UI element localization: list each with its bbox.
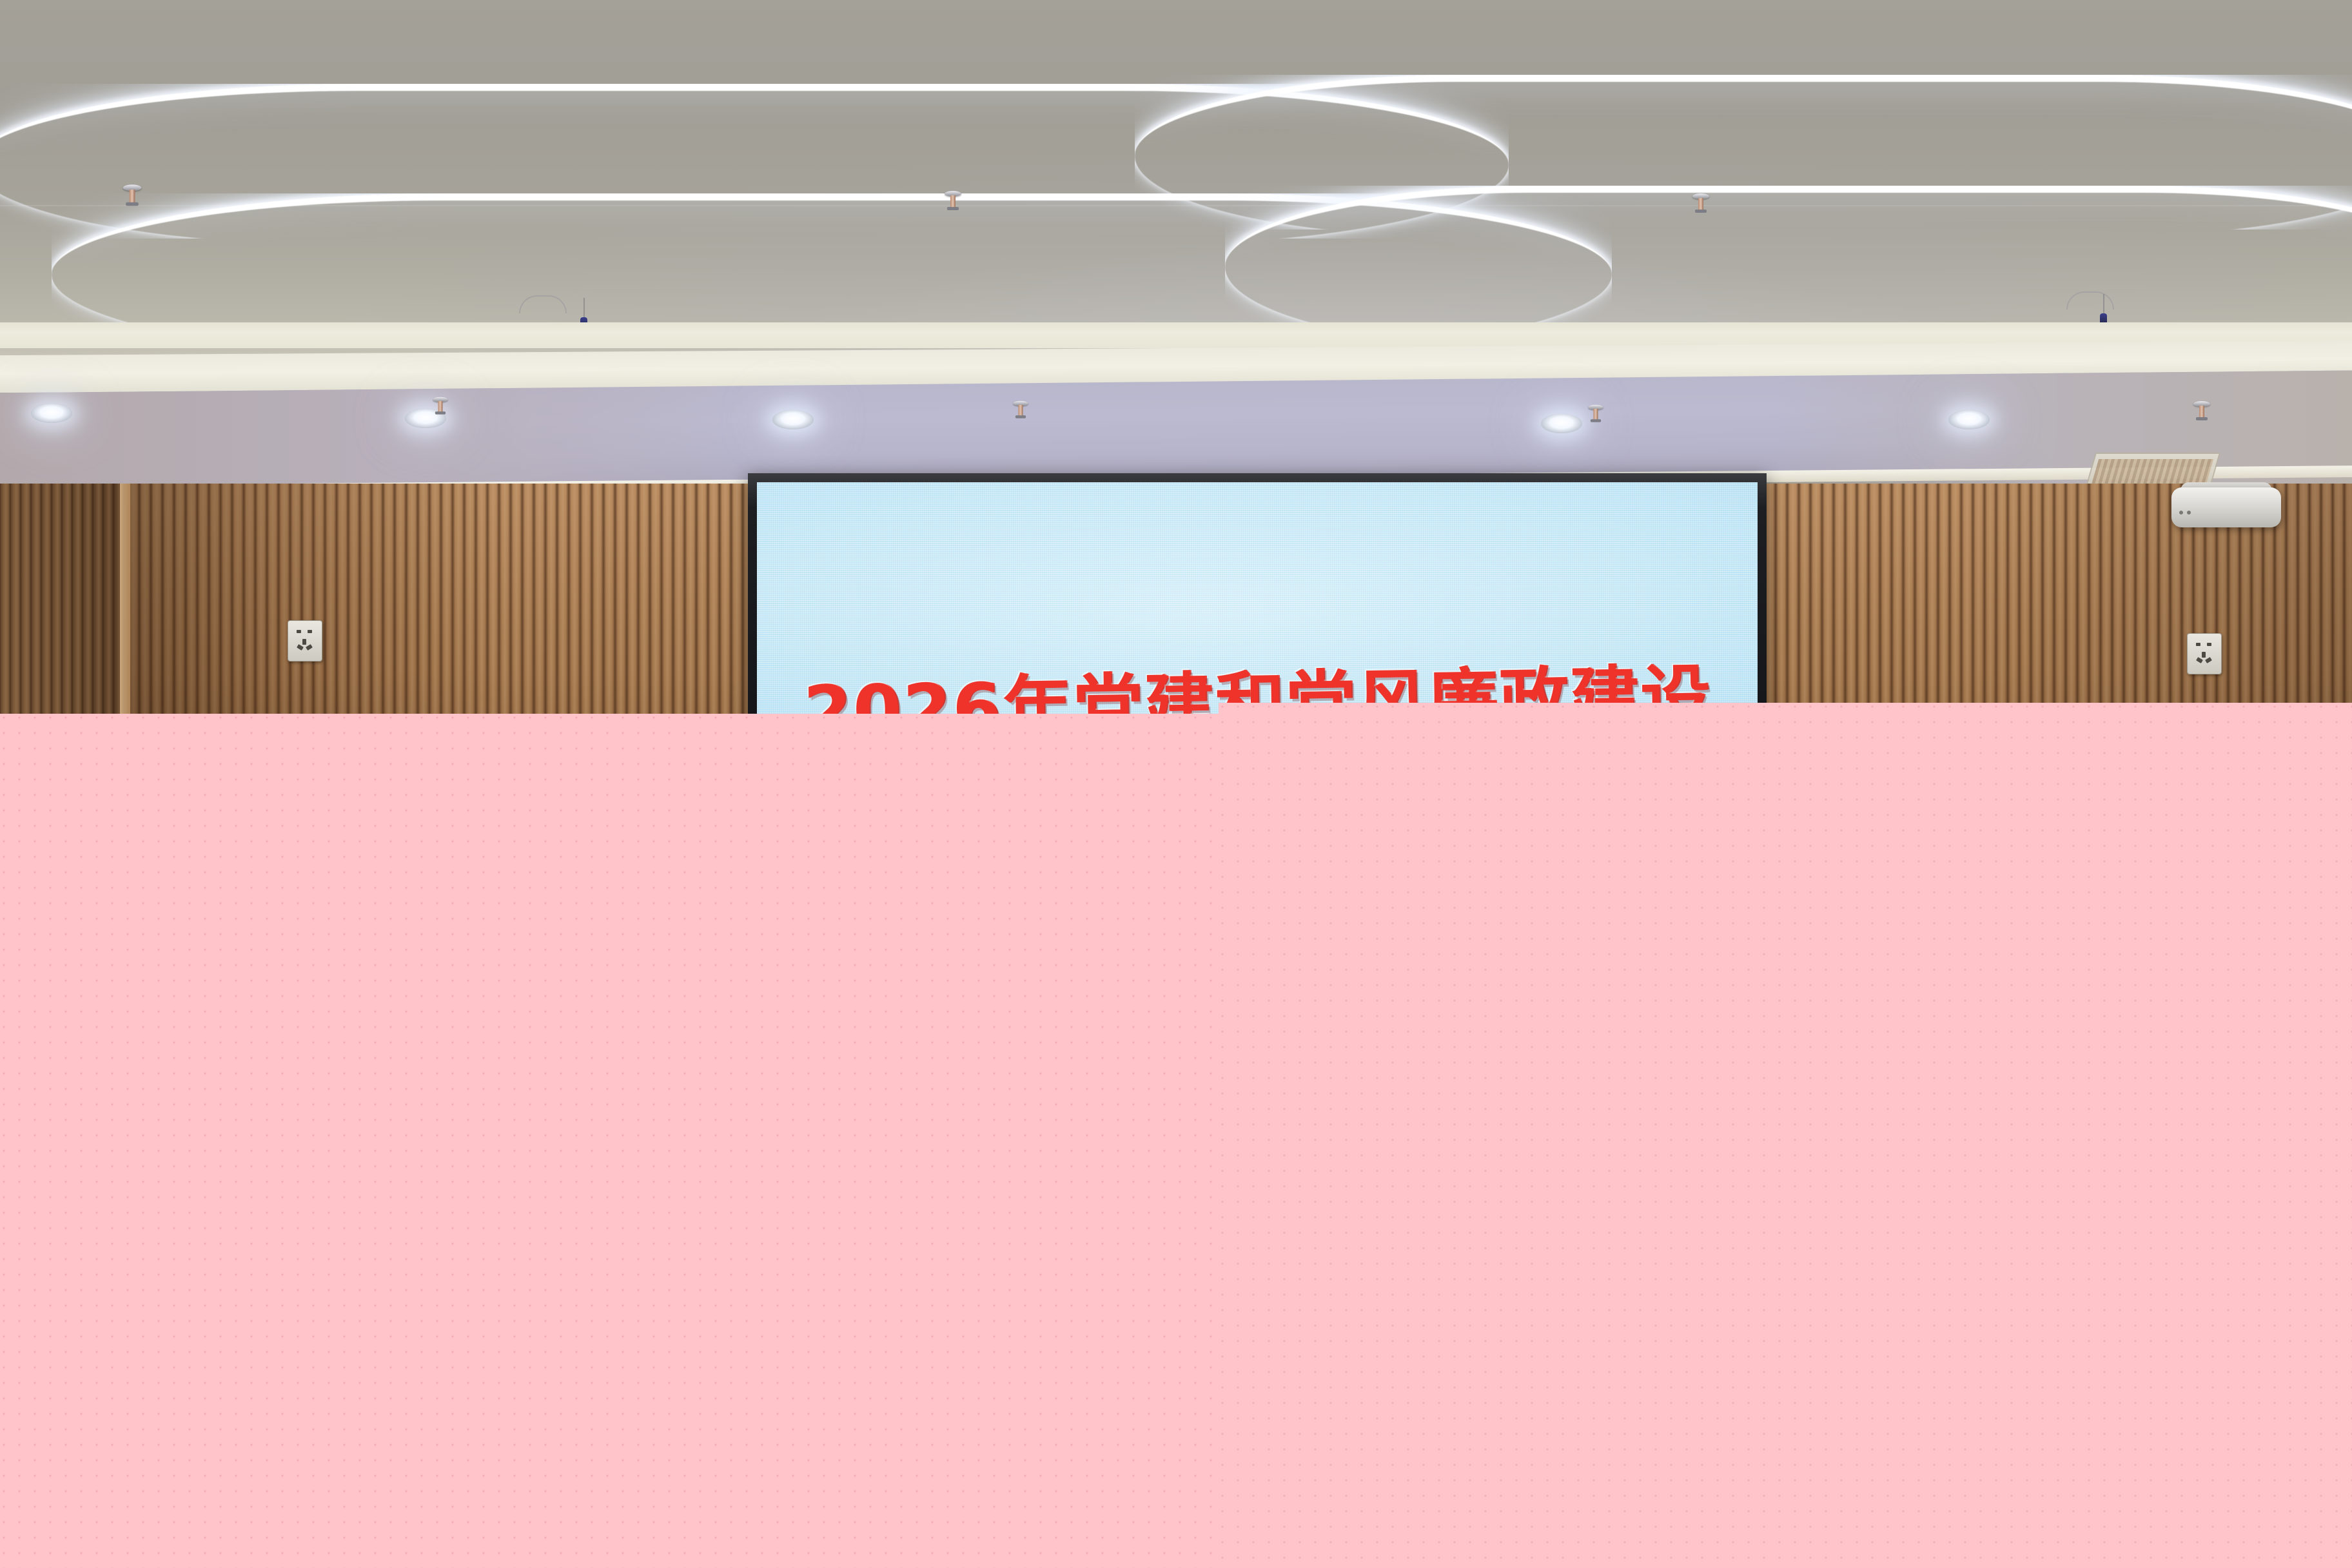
ceiling [0,0,2352,361]
pink-occlusion-panel-left [0,714,1222,1568]
downlight-icon [1541,414,1582,433]
sprinkler-icon [1588,405,1603,425]
ceiling-seam-upper [0,205,2352,206]
sprinkler-icon [123,184,142,208]
pink-occlusion-panel-right [1219,703,2352,1568]
sprinkler-icon [2193,401,2210,423]
ceiling-sheen [0,0,2352,361]
downlight-icon [772,410,814,429]
room-scene: 2026年党建和党风廉政建设 暨意识形态工作会 [0,0,2352,1568]
downlight-icon [31,404,72,423]
power-outlet-left[interactable] [288,620,322,661]
sprinkler-icon [433,397,447,417]
sprinkler-icon [1692,193,1709,215]
wall-mounted-speaker [2171,482,2281,533]
sprinkler-icon [945,191,961,213]
sprinkler-icon [1013,401,1028,421]
downlight-icon [1948,410,1990,429]
power-outlet-right[interactable] [2187,633,2222,674]
